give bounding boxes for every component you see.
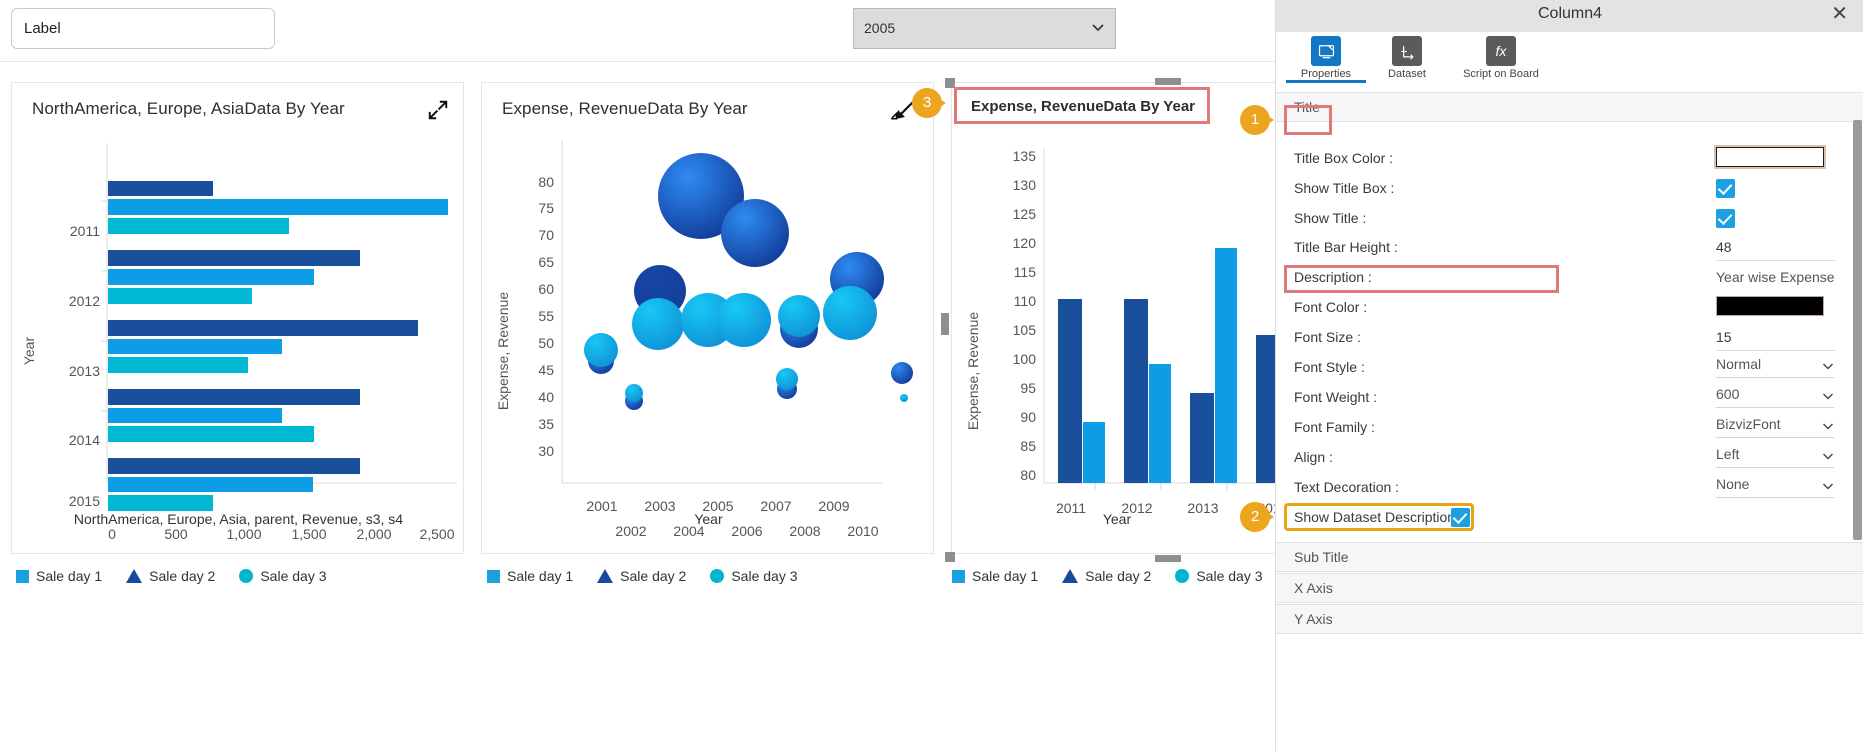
annotation-number: 2 — [1240, 502, 1270, 532]
chart2-plot: Expense, Revenue 80 75 70 65 60 55 50 45… — [482, 121, 933, 551]
row-label: Align : — [1294, 449, 1333, 465]
show-title-checkbox[interactable] — [1716, 209, 1735, 228]
svg-text:1,500: 1,500 — [291, 526, 326, 542]
svg-text:Expense, Revenue: Expense, Revenue — [495, 292, 511, 411]
svg-text:100: 100 — [1013, 351, 1037, 367]
svg-text:55: 55 — [538, 308, 554, 324]
show-dataset-description-checkbox[interactable] — [1451, 508, 1470, 527]
square-icon — [487, 570, 500, 583]
row-align[interactable]: Align : Left — [1276, 444, 1863, 473]
svg-text:2011: 2011 — [70, 223, 100, 239]
legend-label: Sale day 2 — [620, 568, 686, 584]
svg-text:80: 80 — [538, 174, 554, 190]
legend-label: Sale day 3 — [260, 568, 326, 584]
svg-text:75: 75 — [538, 200, 554, 216]
properties-panel-header: Column4 ✕ — [1276, 0, 1863, 32]
row-label: Description : — [1294, 269, 1372, 285]
chart3-xlabel: Year — [952, 511, 1282, 527]
select-value: Left — [1716, 446, 1739, 462]
show-title-box-checkbox[interactable] — [1716, 179, 1735, 198]
legend-item: Sale day 2 — [126, 568, 215, 584]
font-family-select[interactable]: BizvizFont — [1716, 416, 1834, 438]
svg-text:135: 135 — [1013, 148, 1037, 164]
chevron-down-icon — [1822, 390, 1834, 402]
properties-icon — [1311, 36, 1341, 66]
chevron-down-icon — [1822, 420, 1834, 432]
chart3-title: Expense, RevenueData By Year — [971, 98, 1195, 115]
row-text-decoration[interactable]: Text Decoration : None — [1276, 474, 1863, 503]
app-root: Label 2005 NorthAmerica, Europe, AsiaDat… — [0, 0, 1863, 751]
svg-text:40: 40 — [538, 389, 554, 405]
svg-text:30: 30 — [538, 443, 554, 459]
svg-text:2,000: 2,000 — [356, 526, 391, 542]
select-value: BizvizFont — [1716, 416, 1781, 432]
script-icon: fx — [1486, 36, 1516, 66]
tab-label: Properties — [1301, 68, 1351, 80]
row-label: Font Size : — [1294, 329, 1361, 345]
select-value: Normal — [1716, 356, 1761, 372]
font-weight-select[interactable]: 600 — [1716, 386, 1834, 408]
row-description[interactable]: Description : Year wise Expense — [1276, 264, 1863, 293]
year-select-value: 2005 — [864, 20, 895, 36]
legend-item: Sale day 1 — [952, 568, 1038, 584]
svg-text:35: 35 — [538, 416, 554, 432]
row-label: Font Family : — [1294, 419, 1375, 435]
annotation-bubble-1: 1 — [1240, 105, 1274, 139]
svg-text:125: 125 — [1013, 206, 1037, 222]
chart2-legend: Sale day 1 Sale day 2 Sale day 3 — [487, 568, 812, 584]
annotation-bubble-3: 3 — [912, 88, 946, 122]
description-input[interactable]: Year wise Expense — [1716, 269, 1834, 285]
section-title[interactable]: Title — [1276, 92, 1863, 122]
row-font-weight[interactable]: Font Weight : 600 — [1276, 384, 1863, 413]
square-icon — [952, 570, 965, 583]
label-input[interactable]: Label — [11, 8, 275, 49]
svg-text:90: 90 — [1020, 409, 1036, 425]
legend-label: Sale day 1 — [972, 568, 1038, 584]
select-value: None — [1716, 476, 1749, 492]
annotation-number: 1 — [1240, 105, 1270, 135]
section-y-axis[interactable]: Y Axis — [1276, 604, 1863, 634]
svg-text:130: 130 — [1013, 177, 1037, 193]
svg-text:105: 105 — [1013, 322, 1037, 338]
annotation-number: 3 — [912, 88, 942, 118]
svg-text:115: 115 — [1014, 264, 1037, 280]
row-title-bar-height[interactable]: Title Bar Height : 48 — [1276, 234, 1863, 263]
row-label: Font Style : — [1294, 359, 1365, 375]
svg-text:95: 95 — [1020, 380, 1036, 396]
svg-text:85: 85 — [1020, 438, 1036, 454]
properties-panel: Column4 ✕ Properties Dataset fx Script o… — [1275, 0, 1863, 751]
expand-icon[interactable] — [427, 99, 449, 121]
legend-item: Sale day 2 — [1062, 568, 1151, 584]
properties-scrollbar[interactable] — [1853, 120, 1862, 540]
chart3-legend: Sale day 1 Sale day 2 Sale day 3 — [952, 568, 1277, 584]
svg-text:2015: 2015 — [69, 493, 100, 509]
triangle-icon — [1062, 569, 1078, 583]
row-label: Title Bar Height : — [1294, 239, 1398, 255]
svg-text:Year: Year — [21, 337, 37, 366]
row-show-title-box[interactable]: Show Title Box : — [1276, 175, 1863, 204]
row-font-style[interactable]: Font Style : Normal — [1276, 354, 1863, 383]
chart2-title: Expense, RevenueData By Year — [502, 99, 748, 119]
handle-bottom-center[interactable] — [1155, 555, 1181, 562]
legend-item: Sale day 1 — [16, 568, 102, 584]
year-select[interactable]: 2005 — [853, 8, 1116, 49]
svg-text:120: 120 — [1013, 235, 1037, 251]
font-color-swatch[interactable] — [1716, 296, 1824, 316]
row-font-size[interactable]: Font Size : 15 — [1276, 324, 1863, 353]
legend-item: Sale day 3 — [239, 568, 326, 584]
chart2-xlabel: Year — [482, 511, 935, 527]
tab-script-on-board[interactable]: fx Script on Board — [1446, 36, 1556, 80]
svg-text:2012: 2012 — [69, 293, 100, 309]
panel-title: Column4 — [1276, 5, 1863, 23]
svg-text:65: 65 — [538, 254, 554, 270]
chevron-down-icon — [1822, 360, 1834, 372]
row-title-box-color[interactable]: Title Box Color : — [1276, 145, 1863, 174]
properties-tabs: Properties Dataset fx Script on Board — [1276, 32, 1863, 84]
legend-label: Sale day 2 — [1085, 568, 1151, 584]
triangle-icon — [126, 569, 142, 583]
svg-text:1,000: 1,000 — [226, 526, 261, 542]
svg-text:0: 0 — [108, 526, 116, 542]
select-value: 600 — [1716, 386, 1739, 402]
chart1-title: NorthAmerica, Europe, AsiaData By Year — [32, 99, 345, 119]
section-sub-title[interactable]: Sub Title — [1276, 542, 1863, 572]
row-font-color[interactable]: Font Color : — [1276, 294, 1863, 323]
chevron-down-icon — [1091, 20, 1105, 34]
legend-label: Sale day 1 — [507, 568, 573, 584]
chevron-down-icon — [1822, 480, 1834, 492]
row-label: Show Dataset Description : — [1294, 509, 1463, 525]
row-label: Title Box Color : — [1294, 150, 1393, 166]
close-icon[interactable]: ✕ — [1831, 3, 1848, 25]
legend-label: Sale day 2 — [149, 568, 215, 584]
legend-label: Sale day 3 — [731, 568, 797, 584]
legend-item: Sale day 1 — [487, 568, 573, 584]
legend-item: Sale day 2 — [597, 568, 686, 584]
chart1-xlabel: NorthAmerica, Europe, Asia, parent, Reve… — [12, 511, 465, 527]
row-show-dataset-description[interactable]: Show Dataset Description : — [1276, 504, 1863, 533]
annotation-bubble-2: 2 — [1240, 502, 1274, 536]
svg-text:500: 500 — [164, 526, 188, 542]
align-select[interactable]: Left — [1716, 446, 1834, 468]
legend-label: Sale day 1 — [36, 568, 102, 584]
svg-text:45: 45 — [538, 362, 554, 378]
chart-panel-bar-vertical[interactable]: Expense, Revenue 135 130 125 120 115 110… — [951, 82, 1281, 554]
svg-text:70: 70 — [538, 227, 554, 243]
svg-text:2,500: 2,500 — [419, 526, 454, 542]
row-label: Show Title : — [1294, 210, 1366, 226]
dataset-icon — [1392, 36, 1422, 66]
legend-item: Sale day 3 — [710, 568, 797, 584]
circle-icon — [710, 569, 724, 583]
tab-label: Dataset — [1388, 68, 1426, 80]
font-style-select[interactable]: Normal — [1716, 356, 1834, 378]
row-label: Text Decoration : — [1294, 479, 1399, 495]
tab-properties[interactable]: Properties — [1286, 36, 1366, 83]
svg-text:110: 110 — [1014, 293, 1037, 309]
section-x-axis[interactable]: X Axis — [1276, 573, 1863, 603]
tab-label: Script on Board — [1463, 68, 1539, 80]
tab-dataset[interactable]: Dataset — [1367, 36, 1447, 80]
text-decoration-select[interactable]: None — [1716, 476, 1834, 498]
chart3-title-highlight[interactable]: Expense, RevenueData By Year — [954, 87, 1210, 124]
chart-panel-bubble[interactable]: Expense, RevenueData By Year Expense, Re… — [481, 82, 934, 554]
circle-icon — [1175, 569, 1189, 583]
toolbar: Label 2005 — [0, 0, 1275, 62]
row-font-family[interactable]: Font Family : BizvizFont — [1276, 414, 1863, 443]
row-label: Show Title Box : — [1294, 180, 1394, 196]
svg-text:2014: 2014 — [69, 432, 100, 448]
title-bar-height-input[interactable]: 48 — [1716, 239, 1836, 261]
legend-label: Sale day 3 — [1196, 568, 1262, 584]
svg-text:60: 60 — [538, 281, 554, 297]
chevron-down-icon — [1822, 450, 1834, 462]
title-box-color-swatch[interactable] — [1716, 147, 1824, 167]
row-show-title[interactable]: Show Title : — [1276, 205, 1863, 234]
triangle-icon — [597, 569, 613, 583]
chart1-legend: Sale day 1 Sale day 2 Sale day 3 — [16, 568, 341, 584]
square-icon — [16, 570, 29, 583]
chart-panel-bar-horizontal[interactable]: NorthAmerica, Europe, AsiaData By Year Y… — [11, 82, 464, 554]
row-label: Font Weight : — [1294, 389, 1377, 405]
chart1-plot: Year 2011 2012 2013 2014 2015 — [12, 121, 463, 551]
font-size-input[interactable]: 15 — [1716, 329, 1836, 351]
handle-mid-left[interactable] — [941, 313, 949, 335]
svg-text:Expense, Revenue: Expense, Revenue — [965, 312, 981, 431]
svg-text:80: 80 — [1020, 467, 1036, 483]
chart3-plot: Expense, Revenue 135 130 125 120 115 110… — [952, 121, 1282, 551]
row-label: Font Color : — [1294, 299, 1367, 315]
svg-text:2013: 2013 — [69, 363, 100, 379]
svg-text:50: 50 — [538, 335, 554, 351]
legend-item: Sale day 3 — [1175, 568, 1262, 584]
circle-icon — [239, 569, 253, 583]
